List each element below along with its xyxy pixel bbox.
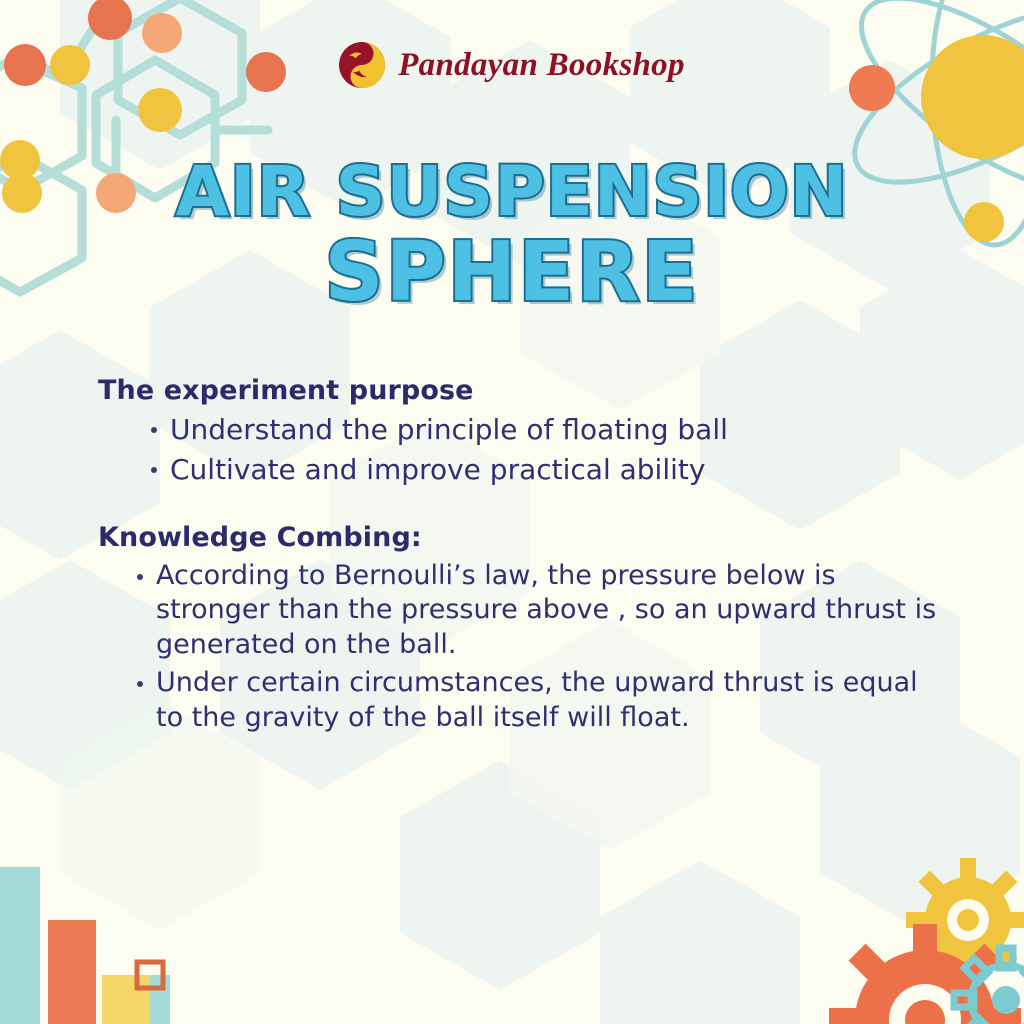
section-heading-knowledge: Knowledge Combing: xyxy=(98,522,948,553)
content-body: The experiment purpose Understand the pr… xyxy=(98,375,948,735)
bar-chart-icon xyxy=(0,867,170,1024)
list-item: Understand the principle of floating bal… xyxy=(144,412,948,448)
page-title: AIR SUSPENSION SPHERE xyxy=(0,158,1024,313)
bullet-list-purpose: Understand the principle of floating bal… xyxy=(144,412,948,488)
list-item: According to Bernoulli’s law, the pressu… xyxy=(130,559,948,663)
brand-header: Pandayan Bookshop xyxy=(0,42,1024,88)
title-line-1: AIR SUSPENSION xyxy=(0,158,1024,226)
list-item: Under certain circumstances, the upward … xyxy=(130,666,948,735)
phoenix-dragon-yinyang-emblem xyxy=(339,42,385,88)
section-experiment-purpose: The experiment purpose Understand the pr… xyxy=(98,375,948,488)
title-line-2: SPHERE xyxy=(0,232,1024,313)
poster-canvas: Pandayan Bookshop AIR SUSPENSION SPHERE … xyxy=(0,0,1024,1024)
brand-name: Pandayan Bookshop xyxy=(398,47,685,84)
section-heading-purpose: The experiment purpose xyxy=(98,375,948,406)
gears-icon xyxy=(829,858,1024,1024)
section-knowledge-combing: Knowledge Combing: According to Bernoull… xyxy=(98,522,948,736)
list-item: Cultivate and improve practical ability xyxy=(144,452,948,488)
bullet-list-knowledge: According to Bernoulli’s law, the pressu… xyxy=(130,559,948,736)
